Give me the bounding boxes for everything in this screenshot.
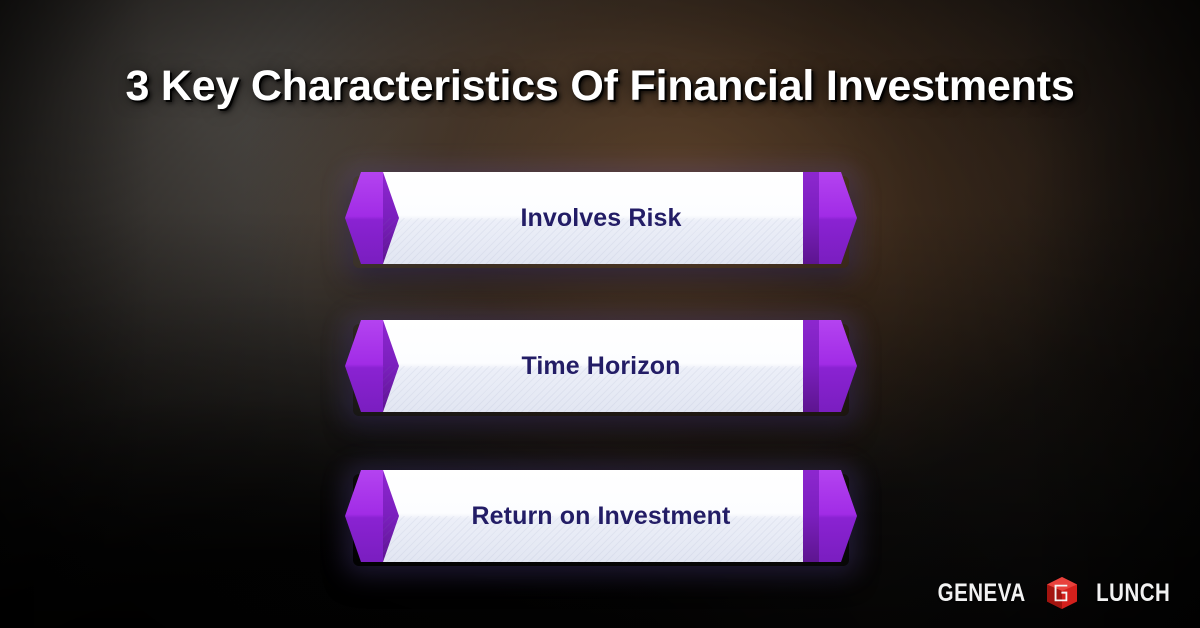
ribbon-item: Involves Risk xyxy=(345,172,857,264)
ribbon-label: Involves Risk xyxy=(399,172,803,264)
ribbon-label: Time Horizon xyxy=(399,320,803,412)
logo-word-geneva: GENEVA xyxy=(938,579,1026,608)
logo-word-lunch: LUNCH xyxy=(1096,579,1170,608)
infographic-canvas: 3 Key Characteristics Of Financial Inves… xyxy=(0,0,1200,628)
page-title: 3 Key Characteristics Of Financial Inves… xyxy=(0,62,1200,111)
brand-logo[interactable]: GENEVA LUNCH xyxy=(928,576,1178,610)
ribbon-item: Time Horizon xyxy=(345,320,857,412)
logo-mark-icon xyxy=(1045,576,1079,610)
ribbon-label: Return on Investment xyxy=(399,470,803,562)
ribbon-item: Return on Investment xyxy=(345,470,857,562)
